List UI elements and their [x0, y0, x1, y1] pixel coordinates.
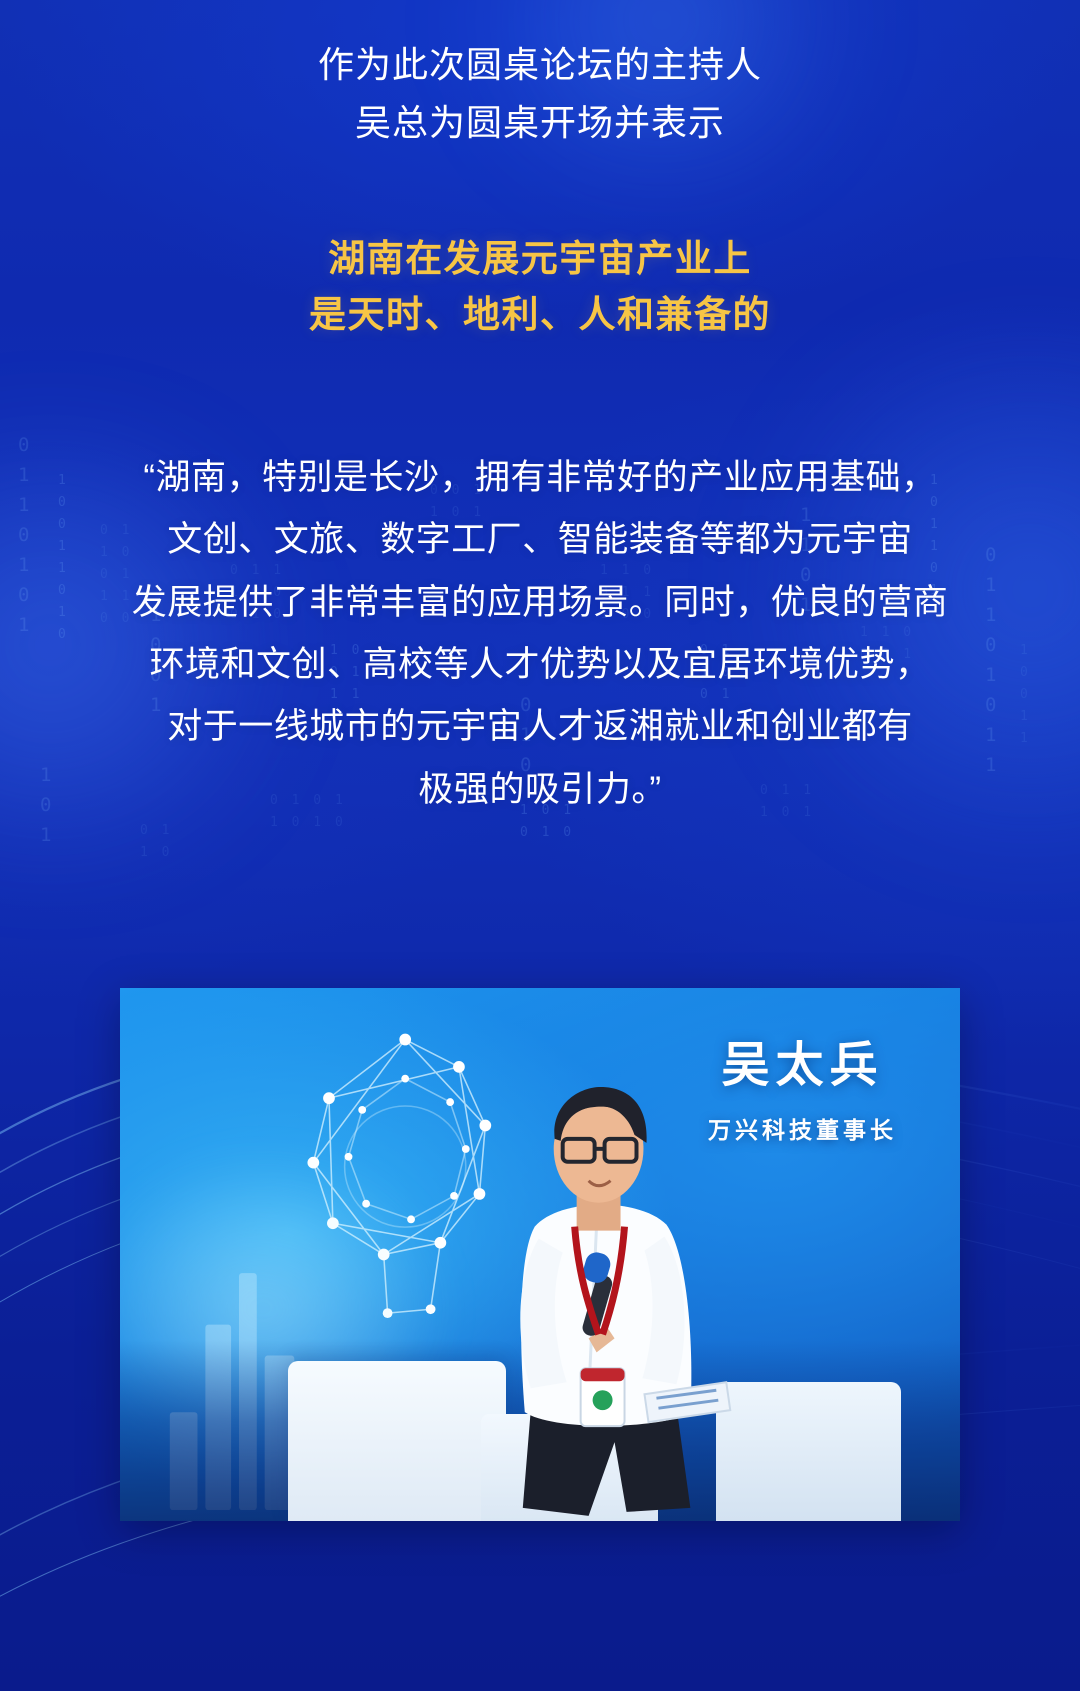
speaker-title: 万兴科技董事长 — [708, 1111, 897, 1145]
quote-line: 对于一线城市的元宇宙人才返湘就业和创业都有 — [46, 696, 1034, 758]
quote-line: 环境和文创、高校等人才优势以及宜居环境优势， — [46, 634, 1034, 696]
headline: 湖南在发展元宇宙产业上 是天时、地利、人和兼备的 — [0, 231, 1080, 343]
headline-line-1: 湖南在发展元宇宙产业上 — [0, 231, 1080, 287]
quote-line: 文创、文旅、数字工厂、智能装备等都为元宇宙 — [46, 509, 1034, 571]
quote-line: 极强的吸引力。” — [46, 759, 1034, 821]
quote-line: 发展提供了非常丰富的应用场景。同时，优良的营商 — [46, 572, 1034, 634]
speaker-name-block: 吴太兵 万兴科技董事长 — [708, 1025, 897, 1145]
speaker-photo: 吴太兵 万兴科技董事长 — [120, 988, 960, 1521]
lead-line-1: 作为此次圆桌论坛的主持人 — [318, 44, 762, 85]
lead-line-2: 吴总为圆桌开场并表示 — [0, 94, 1080, 152]
quote-line: “湖南，特别是长沙，拥有非常好的产业应用基础， — [46, 447, 1034, 509]
headline-line-2: 是天时、地利、人和兼备的 — [0, 287, 1080, 343]
lead-paragraph: 作为此次圆桌论坛的主持人 吴总为圆桌开场并表示 — [0, 0, 1080, 153]
poster-content: 作为此次圆桌论坛的主持人 吴总为圆桌开场并表示 湖南在发展元宇宙产业上 是天时、… — [0, 0, 1080, 821]
quote-block: “湖南，特别是长沙，拥有非常好的产业应用基础， 文创、文旅、数字工厂、智能装备等… — [0, 447, 1080, 821]
speaker-name: 吴太兵 — [708, 1025, 897, 1095]
